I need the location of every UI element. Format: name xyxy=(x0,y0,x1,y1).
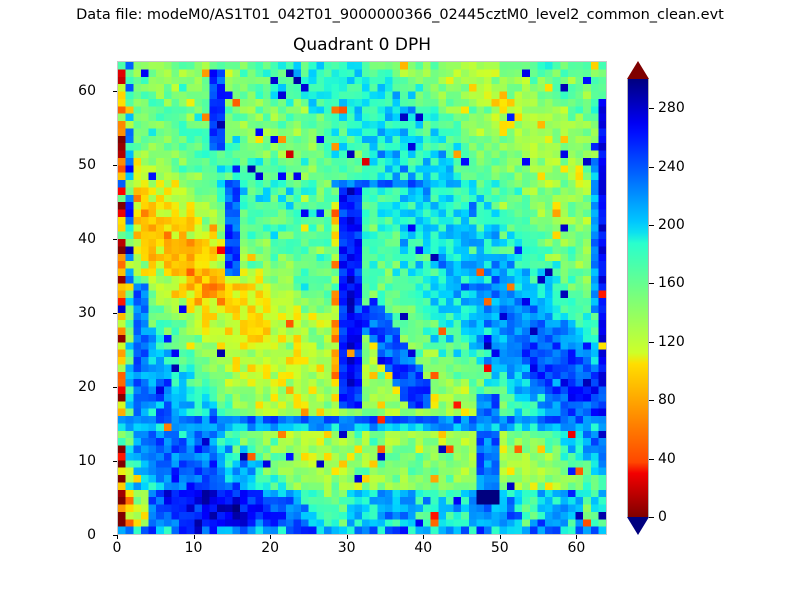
colorbar-tick-mark xyxy=(649,342,654,343)
colorbar-over-arrow xyxy=(627,61,649,79)
y-tick-mark xyxy=(113,313,117,314)
x-tick-mark xyxy=(347,535,348,539)
heatmap-axes[interactable] xyxy=(117,61,607,535)
y-tick-mark xyxy=(113,387,117,388)
y-tick-label: 60 xyxy=(78,83,96,99)
x-tick-label: 40 xyxy=(414,540,432,556)
y-tick-mark xyxy=(113,165,117,166)
colorbar-tick-mark xyxy=(649,517,654,518)
x-tick-mark xyxy=(194,535,195,539)
colorbar-under-arrow xyxy=(627,517,649,535)
colorbar-tick-mark xyxy=(649,167,654,168)
colorbar-tick-label: 240 xyxy=(658,159,685,175)
chart-title: Quadrant 0 DPH xyxy=(117,34,607,56)
y-tick-label: 40 xyxy=(78,231,96,247)
matplotlib-figure: Data file: modeM0/AS1T01_042T01_90000003… xyxy=(0,0,800,600)
y-tick-mark xyxy=(113,535,117,536)
y-tick-mark xyxy=(113,91,117,92)
x-tick-mark xyxy=(270,535,271,539)
colorbar-tick-label: 160 xyxy=(658,275,685,291)
x-tick-label: 10 xyxy=(185,540,203,556)
colorbar-tick-mark xyxy=(649,400,654,401)
heatmap-image xyxy=(118,62,606,534)
x-tick-label: 50 xyxy=(491,540,509,556)
colorbar-tick-mark xyxy=(649,108,654,109)
y-tick-label: 10 xyxy=(78,453,96,469)
colorbar-tick-mark xyxy=(649,459,654,460)
y-tick-mark xyxy=(113,239,117,240)
y-tick-mark xyxy=(113,461,117,462)
x-tick-label: 0 xyxy=(113,540,122,556)
colorbar-tick-label: 280 xyxy=(658,100,685,116)
colorbar-tick-label: 80 xyxy=(658,392,676,408)
y-tick-label: 20 xyxy=(78,379,96,395)
x-tick-mark xyxy=(117,535,118,539)
y-tick-label: 30 xyxy=(78,305,96,321)
colorbar-gradient xyxy=(627,79,649,517)
y-tick-label: 0 xyxy=(87,527,96,543)
data-file-label: Data file: modeM0/AS1T01_042T01_90000003… xyxy=(0,6,800,24)
colorbar-tick-label: 40 xyxy=(658,451,676,467)
colorbar[interactable]: 04080120160200240280 xyxy=(627,61,649,535)
colorbar-tick-mark xyxy=(649,283,654,284)
x-tick-label: 20 xyxy=(261,540,279,556)
colorbar-tick-mark xyxy=(649,225,654,226)
colorbar-tick-label: 0 xyxy=(658,509,667,525)
x-tick-label: 30 xyxy=(338,540,356,556)
colorbar-tick-label: 120 xyxy=(658,334,685,350)
y-tick-label: 50 xyxy=(78,157,96,173)
x-tick-label: 60 xyxy=(567,540,585,556)
x-tick-mark xyxy=(500,535,501,539)
x-tick-mark xyxy=(423,535,424,539)
x-tick-mark xyxy=(576,535,577,539)
colorbar-tick-label: 200 xyxy=(658,217,685,233)
